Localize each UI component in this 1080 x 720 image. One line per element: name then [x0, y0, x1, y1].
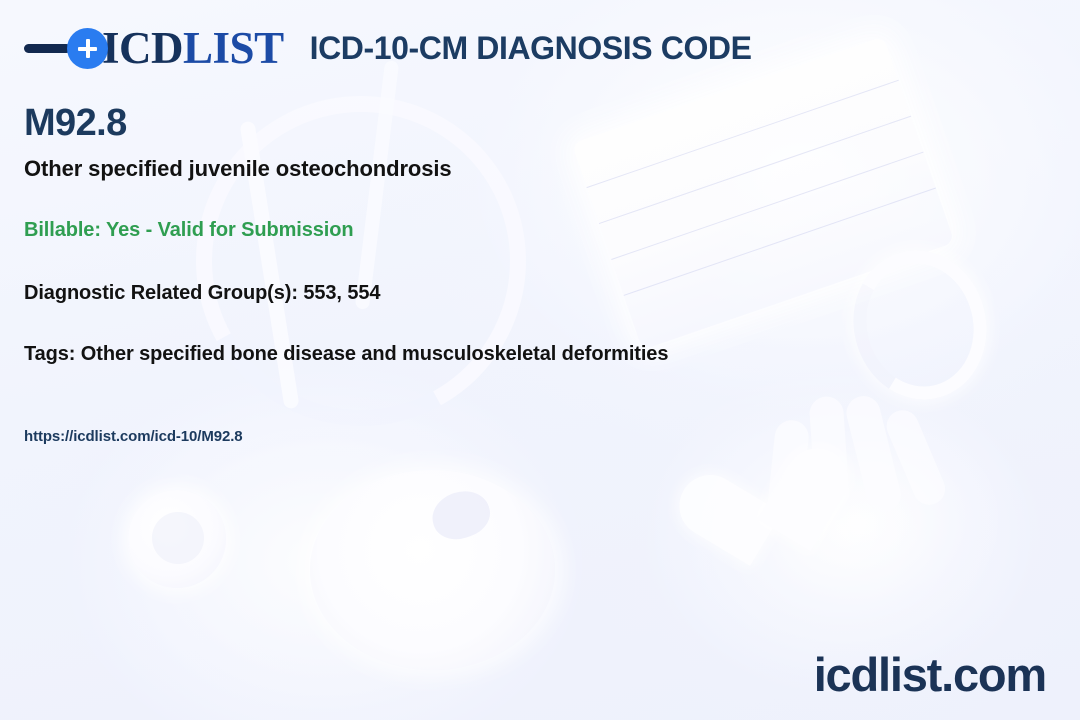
stethoscope-ear-tip — [426, 484, 495, 546]
icdlist-logo[interactable]: ICD LIST — [24, 25, 284, 71]
page-header: ICD LIST ICD-10-CM DIAGNOSIS CODE — [0, 0, 1080, 96]
stethoscope-diaphragm-disc — [310, 470, 555, 670]
stethoscope-chestpiece-icon — [128, 490, 226, 588]
dash-icon — [24, 44, 71, 53]
page-title: ICD-10-CM DIAGNOSIS CODE — [310, 30, 752, 67]
diagnostic-related-groups: Diagnostic Related Group(s): 553, 554 — [24, 282, 924, 305]
logo-text-primary: ICD — [102, 26, 183, 71]
diagnosis-code-description: Other specified juvenile osteochondrosis — [24, 156, 924, 182]
tags-line: Tags: Other specified bone disease and m… — [24, 343, 924, 366]
diagnosis-code-details: M92.8 Other specified juvenile osteochon… — [24, 104, 924, 445]
footer-brand-watermark: icdlist.com — [814, 651, 1046, 698]
plus-circle-icon — [67, 28, 108, 69]
hand-icon — [754, 412, 1015, 649]
stethoscope-chestpiece-inner — [152, 512, 204, 564]
billable-status-badge: Billable: Yes - Valid for Submission — [24, 219, 924, 242]
diagnosis-code: M92.8 — [24, 104, 924, 144]
source-url-link[interactable]: https://icdlist.com/icd-10/M92.8 — [24, 428, 924, 445]
logo-text-secondary: LIST — [183, 26, 284, 71]
heart-icon — [678, 458, 811, 591]
